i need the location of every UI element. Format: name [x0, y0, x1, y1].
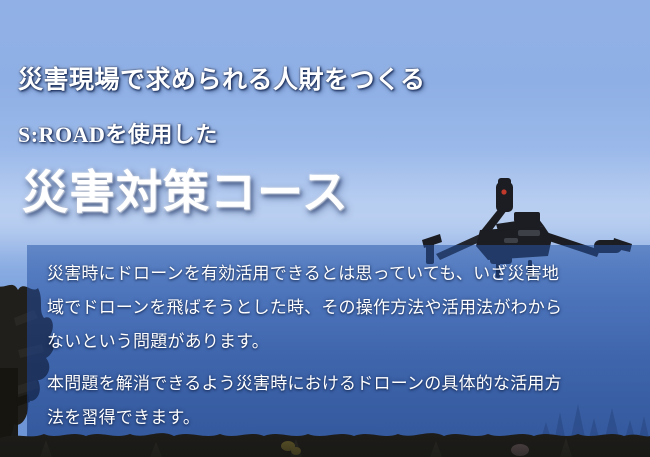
description-paragraph1-line3: ないという問題があります。: [47, 325, 637, 359]
course-title: 災害対策コース: [22, 156, 349, 222]
headline-group: 災害現場で求められる人財をつくる S:ROADを使用した 災害対策コース: [0, 0, 650, 232]
headline-line-1: 災害現場で求められる人財をつくる: [18, 60, 426, 96]
paragraph-spacer: [47, 359, 637, 367]
description-paragraph1-line2: 域でドローンを飛ばそうとした時、その操作方法や活用法がわから: [47, 291, 637, 325]
description-text-block: 災害時にドローンを有効活用できるとは思っていても、いざ災害地 域でドローンを飛ば…: [47, 257, 637, 435]
description-paragraph2-line1: 本問題を解消できるよう災害時におけるドローンの具体的な活用方: [47, 367, 637, 401]
headline-line-2: S:ROADを使用した: [18, 117, 218, 149]
forest-shadow-gradient: [0, 437, 650, 457]
description-overlay-panel: 災害時にドローンを有効活用できるとは思っていても、いざ災害地 域でドローンを飛ば…: [27, 245, 650, 439]
description-paragraph1-line1: 災害時にドローンを有効活用できるとは思っていても、いざ災害地: [47, 257, 637, 291]
course-hero-banner: 災害時にドローンを有効活用できるとは思っていても、いざ災害地 域でドローンを飛ば…: [0, 0, 650, 457]
